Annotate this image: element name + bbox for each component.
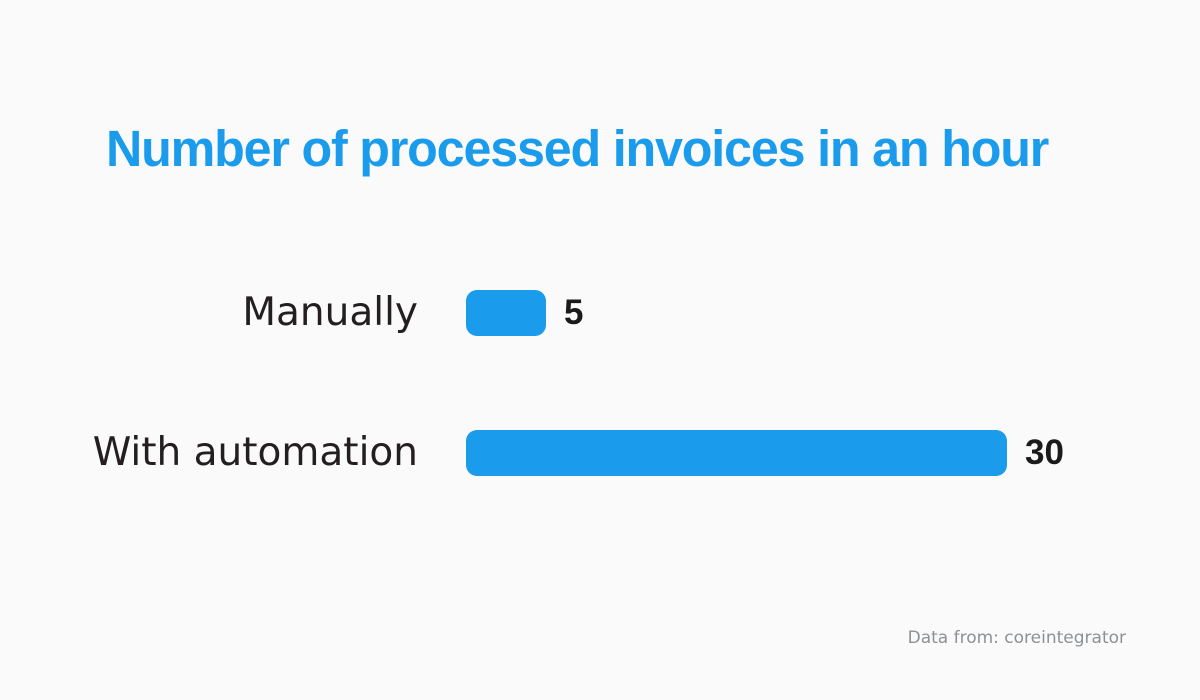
source-attribution: Data from: coreintegrator bbox=[908, 628, 1126, 648]
bar-value-manually: 5 bbox=[564, 290, 583, 336]
bar-row: With automation 30 bbox=[0, 430, 1200, 476]
bar-value-with-automation: 30 bbox=[1025, 430, 1064, 476]
bar-track-with-automation: 30 bbox=[466, 430, 1064, 476]
bar-manually bbox=[466, 290, 546, 336]
category-label-with-automation: With automation bbox=[0, 430, 418, 476]
category-label-manually: Manually bbox=[0, 290, 418, 336]
chart-container: Number of processed invoices in an hour … bbox=[0, 0, 1200, 700]
plot-area: Manually 5 With automation 30 bbox=[0, 290, 1200, 570]
bar-with-automation bbox=[466, 430, 1007, 476]
bar-row: Manually 5 bbox=[0, 290, 1200, 336]
bar-track-manually: 5 bbox=[466, 290, 583, 336]
chart-title: Number of processed invoices in an hour bbox=[106, 118, 1081, 180]
